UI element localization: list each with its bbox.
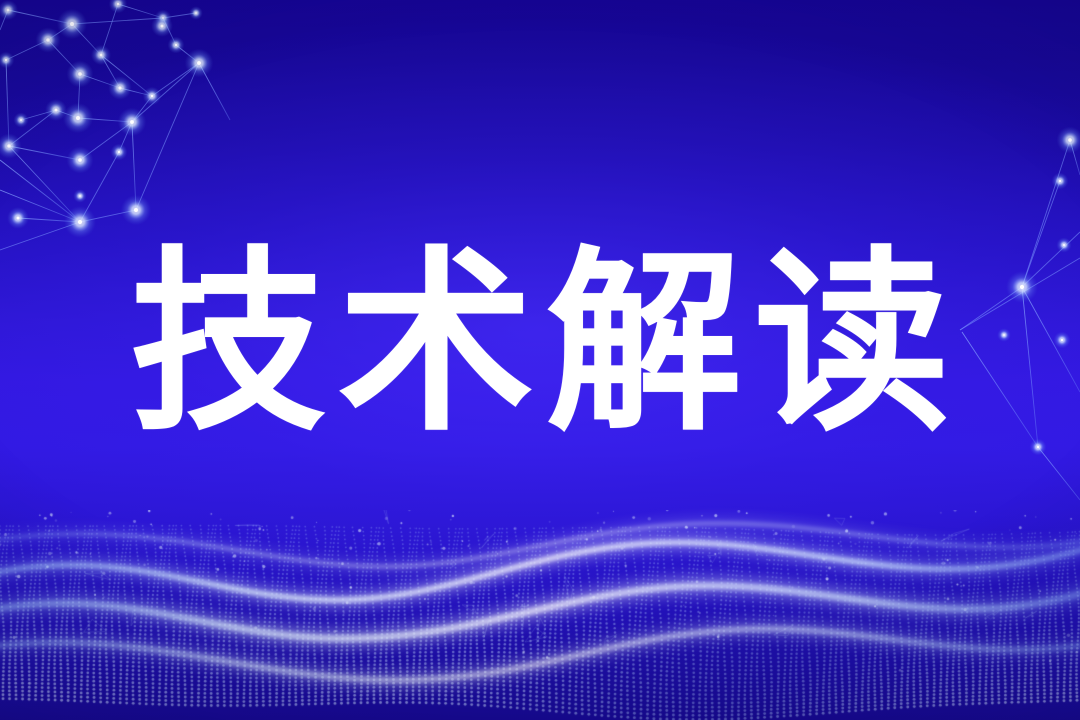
poster-canvas: 技术解读 (0, 0, 1080, 720)
page-title: 技术解读 (0, 246, 1080, 442)
